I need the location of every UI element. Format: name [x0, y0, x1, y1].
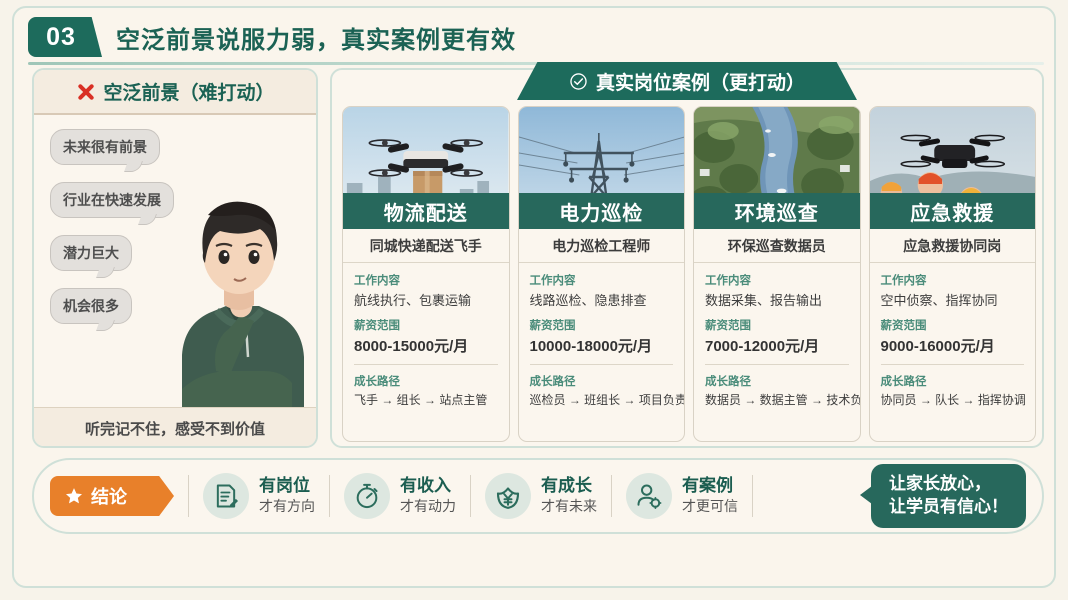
- callout-line-1: 让家长放心，: [889, 474, 991, 493]
- benefit-text: 有案例 才更可信: [682, 475, 738, 517]
- job-card[interactable]: 物流配送 同城快递配送飞手 工作内容 航线执行、包裹运输 薪资范围 8000-1…: [342, 106, 510, 442]
- benefit-title: 有案例: [682, 476, 733, 495]
- document-pencil-icon: [203, 473, 249, 519]
- path-value: 协同员 → 队长 → 指挥协调: [881, 391, 1025, 408]
- duty-value: 航线执行、包裹运输: [354, 290, 498, 309]
- salary-label: 薪资范围: [530, 317, 674, 333]
- negative-panel-footer: 听完记不住，感受不到价值: [34, 407, 316, 448]
- power-tower-photo: 电力巡检: [519, 107, 685, 229]
- job-card[interactable]: 环境巡查 环保巡查数据员 工作内容 数据采集、报告输出 薪资范围 7000-12…: [693, 106, 861, 442]
- conclusion-label: 结论: [91, 483, 127, 509]
- closing-callout: 让家长放心， 让学员有信心！: [871, 464, 1026, 528]
- sprout-yen-icon: [485, 473, 531, 519]
- slide-page: 03 空泛前景说服力弱，真实案例更有效 空泛前景（难打动） 未来很有前景 行业在…: [12, 6, 1056, 588]
- negative-panel-body: 未来很有前景 行业在快速发展 潜力巨大 机会很多: [34, 115, 316, 407]
- salary-value: 10000-18000元/月: [530, 335, 674, 356]
- job-card[interactable]: 应急救援 应急救援协同岗 工作内容 空中侦察、指挥协同 薪资范围 9000-16…: [869, 106, 1037, 442]
- x-mark-icon: [75, 82, 95, 102]
- page-title: 空泛前景说服力弱，真实案例更有效: [116, 20, 516, 55]
- benefit-subtitle: 才有方向: [259, 498, 315, 514]
- job-card-body: 工作内容 航线执行、包裹运输 薪资范围 8000-15000元/月 成长路径 飞…: [343, 263, 509, 441]
- job-card-subtitle: 应急救援协同岗: [870, 229, 1036, 263]
- benefit-text: 有岗位 才有方向: [259, 475, 315, 517]
- salary-value: 7000-12000元/月: [705, 335, 849, 356]
- divider: [611, 475, 612, 517]
- real-cases-banner-label: 真实岗位案例（更打动）: [596, 68, 805, 95]
- job-card-title: 电力巡检: [519, 193, 685, 229]
- benefit-subtitle: 才有动力: [400, 498, 456, 514]
- job-card-title: 环境巡查: [694, 193, 860, 229]
- divider: [530, 364, 674, 365]
- section-number-badge: 03: [28, 17, 102, 57]
- job-card-list: 物流配送 同城快递配送飞手 工作内容 航线执行、包裹运输 薪资范围 8000-1…: [342, 106, 1036, 442]
- job-card-title: 物流配送: [343, 193, 509, 229]
- duty-label: 工作内容: [881, 272, 1025, 288]
- job-card-body: 工作内容 线路巡检、隐患排查 薪资范围 10000-18000元/月 成长路径 …: [519, 263, 685, 441]
- divider: [752, 475, 753, 517]
- rescue-team-photo: 应急救援: [870, 107, 1036, 229]
- job-card-title: 应急救援: [870, 193, 1036, 229]
- benefit-title: 有岗位: [259, 476, 310, 495]
- benefit-item-income: 有收入 才有动力: [344, 473, 456, 519]
- job-card[interactable]: 电力巡检 电力巡检工程师 工作内容 线路巡检、隐患排查 薪资范围 10000-1…: [518, 106, 686, 442]
- divider: [881, 364, 1025, 365]
- benefit-item-growth: 有成长 才有未来: [485, 473, 597, 519]
- benefit-title: 有收入: [400, 476, 451, 495]
- negative-panel-header: 空泛前景（难打动）: [34, 70, 316, 115]
- header-divider: [28, 62, 1044, 65]
- path-label: 成长路径: [881, 373, 1025, 389]
- duty-label: 工作内容: [705, 272, 849, 288]
- path-value: 数据员 → 数据主管 → 技术负责人: [705, 391, 849, 408]
- salary-value: 9000-16000元/月: [881, 335, 1025, 356]
- negative-example-panel: 空泛前景（难打动） 未来很有前景 行业在快速发展 潜力巨大 机会很多: [32, 68, 318, 448]
- person-gear-icon: [626, 473, 672, 519]
- divider: [705, 364, 849, 365]
- river-aerial-photo: 环境巡查: [694, 107, 860, 229]
- delivery-drone-photo: 物流配送: [343, 107, 509, 229]
- duty-value: 线路巡检、隐患排查: [530, 290, 674, 309]
- duty-label: 工作内容: [530, 272, 674, 288]
- header: 03 空泛前景说服力弱，真实案例更有效: [28, 14, 1044, 62]
- real-cases-banner: 真实岗位案例（更打动）: [517, 62, 857, 100]
- job-card-subtitle: 电力巡检工程师: [519, 229, 685, 263]
- duty-label: 工作内容: [354, 272, 498, 288]
- path-value: 飞手 → 组长 → 站点主管: [354, 391, 498, 408]
- duty-value: 数据采集、报告输出: [705, 290, 849, 309]
- benefit-item-jobs: 有岗位 才有方向: [203, 473, 315, 519]
- divider: [188, 475, 189, 517]
- star-icon: [64, 486, 84, 506]
- job-card-body: 工作内容 空中侦察、指挥协同 薪资范围 9000-16000元/月 成长路径 协…: [870, 263, 1036, 441]
- job-card-body: 工作内容 数据采集、报告输出 薪资范围 7000-12000元/月 成长路径 数…: [694, 263, 860, 441]
- job-card-subtitle: 同城快递配送飞手: [343, 229, 509, 263]
- benefit-text: 有收入 才有动力: [400, 475, 456, 517]
- job-card-subtitle: 环保巡查数据员: [694, 229, 860, 263]
- stopwatch-icon: [344, 473, 390, 519]
- divider: [354, 364, 498, 365]
- benefit-subtitle: 才有未来: [541, 498, 597, 514]
- list-item: 潜力巨大: [50, 235, 132, 271]
- conclusion-bar: 结论 有岗位 才有方向: [32, 458, 1044, 534]
- path-label: 成长路径: [530, 373, 674, 389]
- salary-value: 8000-15000元/月: [354, 335, 498, 356]
- divider: [329, 475, 330, 517]
- negative-panel-title: 空泛前景（难打动）: [103, 78, 274, 105]
- thinking-person-illustration: [164, 175, 314, 407]
- benefit-text: 有成长 才有未来: [541, 475, 597, 517]
- divider: [470, 475, 471, 517]
- list-item: 行业在快速发展: [50, 182, 174, 218]
- list-item: 未来很有前景: [50, 129, 160, 165]
- benefit-subtitle: 才更可信: [682, 498, 738, 514]
- salary-label: 薪资范围: [881, 317, 1025, 333]
- benefit-title: 有成长: [541, 476, 592, 495]
- check-circle-icon: [569, 72, 588, 91]
- path-label: 成长路径: [705, 373, 849, 389]
- benefit-item-cases: 有案例 才更可信: [626, 473, 738, 519]
- real-cases-panel: 真实岗位案例（更打动）: [330, 68, 1044, 448]
- salary-label: 薪资范围: [354, 317, 498, 333]
- list-item: 机会很多: [50, 288, 132, 324]
- path-value: 巡检员 → 班组长 → 项目负责人: [530, 391, 674, 408]
- path-label: 成长路径: [354, 373, 498, 389]
- duty-value: 空中侦察、指挥协同: [881, 290, 1025, 309]
- callout-line-2: 让学员有信心！: [889, 497, 1008, 516]
- salary-label: 薪资范围: [705, 317, 849, 333]
- conclusion-badge: 结论: [50, 476, 174, 516]
